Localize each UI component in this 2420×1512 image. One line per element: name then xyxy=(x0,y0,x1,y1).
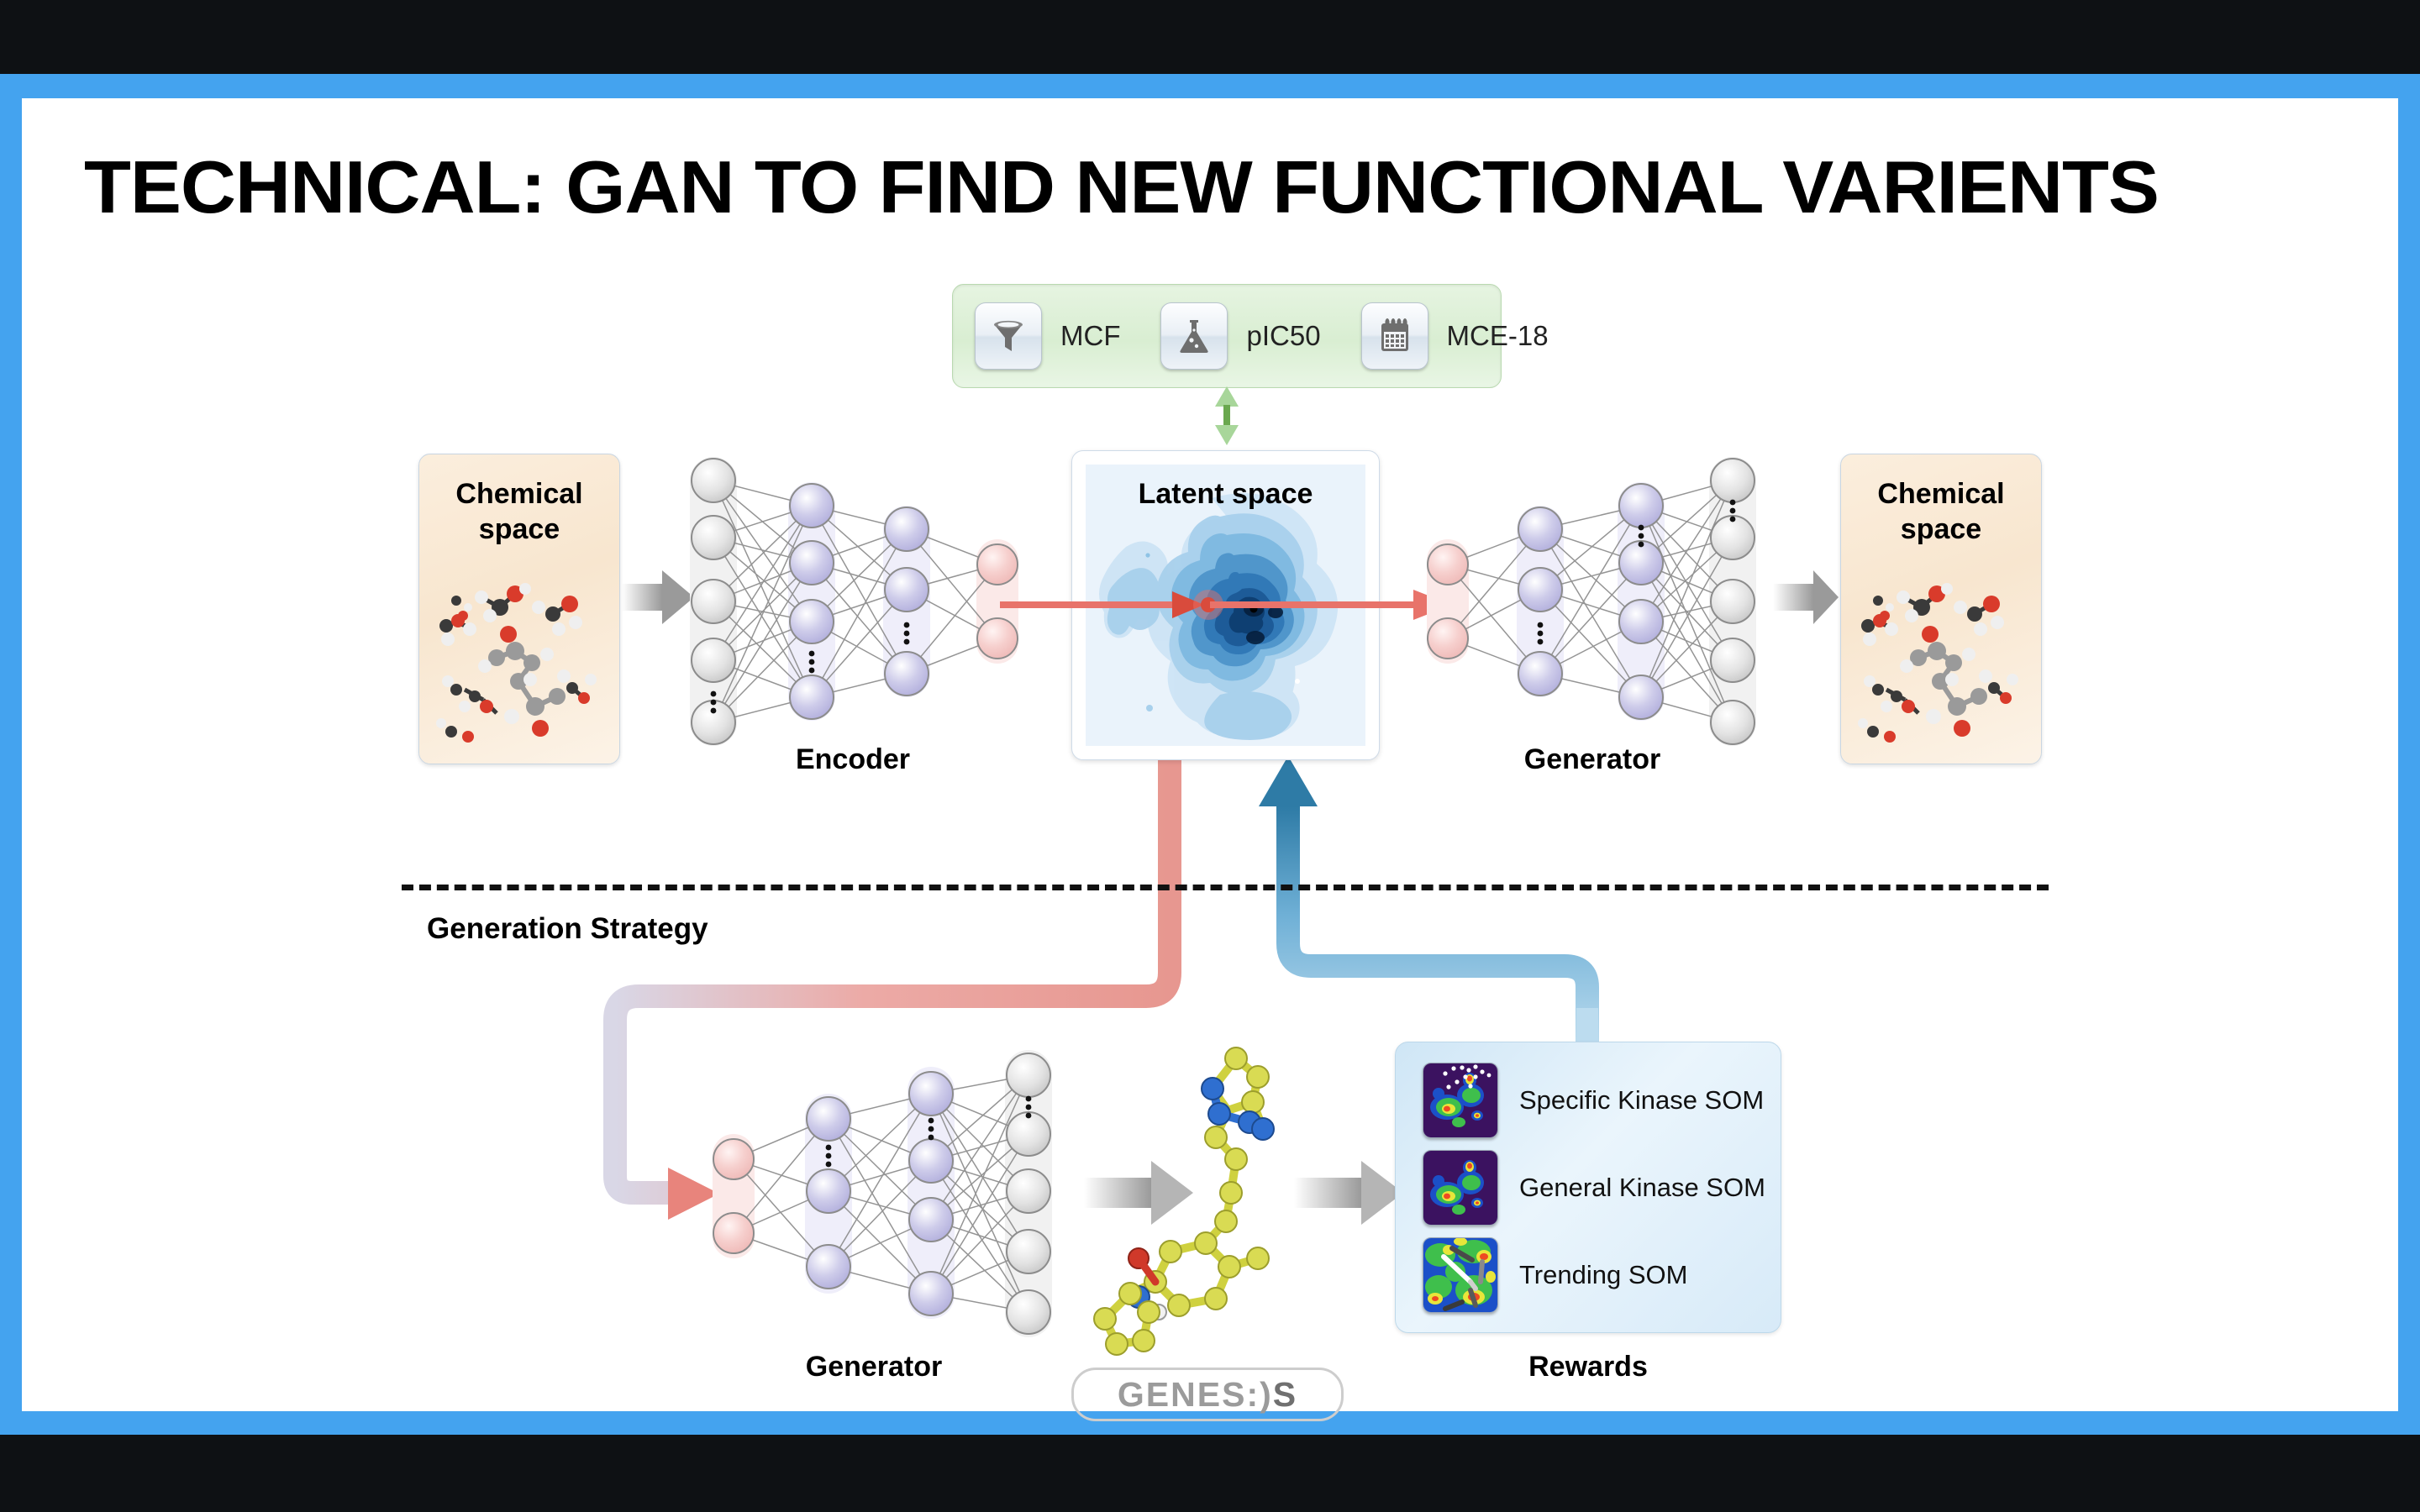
genesis-logo-face: :) xyxy=(1246,1375,1272,1415)
genesis-logo-end: S xyxy=(1273,1375,1297,1415)
pipe-arrow-into-latent xyxy=(1259,756,1318,806)
generator-top-label: Generator xyxy=(1470,743,1714,776)
chemical-space-left-panel: Chemical space xyxy=(418,454,620,764)
generator-top-network xyxy=(1420,445,1765,756)
generator-bottom-label: Generator xyxy=(748,1351,1000,1383)
latent-space-title: Latent space xyxy=(1072,478,1379,511)
rewards-label: Rewards xyxy=(1462,1351,1714,1383)
reward-label-trending: Trending SOM xyxy=(1519,1260,1687,1290)
property-label-pic50: pIC50 xyxy=(1246,320,1320,352)
chemical-space-right-panel: Chemical space xyxy=(1840,454,2042,764)
slide-root: TECHNICAL: GAN TO FIND NEW FUNCTIONAL VA… xyxy=(0,0,2420,1512)
genesis-logo-text: GENES xyxy=(1118,1375,1247,1415)
genesis-logo: GENES:)S xyxy=(1071,1368,1344,1421)
properties-panel[interactable]: MCF pIC50 xyxy=(952,284,1502,388)
chemical-space-right-title: Chemical space xyxy=(1841,476,2041,547)
property-item-pic50[interactable]: pIC50 xyxy=(1160,302,1360,370)
chemical-space-left-title: Chemical space xyxy=(419,476,619,547)
som-heatmap-general-icon xyxy=(1423,1150,1498,1226)
latent-traversal-arrow xyxy=(1000,563,1470,647)
pipe-rewards-to-latent xyxy=(1288,806,1587,1048)
property-item-mcf[interactable]: MCF xyxy=(975,302,1160,370)
generator-bottom-network xyxy=(706,1042,1059,1344)
molecule-cluster-icon xyxy=(1853,564,2029,753)
reward-label-specific: Specific Kinase SOM xyxy=(1519,1085,1764,1116)
generated-molecule-icon xyxy=(1071,1042,1340,1361)
rewards-panel: Specific Kinase SOM xyxy=(1395,1042,1781,1333)
som-heatmap-specific-icon xyxy=(1423,1063,1498,1138)
encoder-network xyxy=(681,445,1025,756)
reward-item-specific[interactable]: Specific Kinase SOM xyxy=(1423,1063,1764,1138)
arrow-generator-to-chem xyxy=(1773,570,1839,624)
som-heatmap-trending-icon xyxy=(1423,1237,1498,1313)
encoder-label: Encoder xyxy=(731,743,975,776)
property-label-mce18: MCE-18 xyxy=(1447,320,1549,352)
property-latent-double-arrow xyxy=(1213,386,1241,445)
flask-icon xyxy=(1160,302,1228,370)
reward-item-general[interactable]: General Kinase SOM xyxy=(1423,1150,1765,1226)
property-label-mcf: MCF xyxy=(1060,320,1120,352)
reward-label-general: General Kinase SOM xyxy=(1519,1173,1765,1203)
calendar-icon xyxy=(1361,302,1428,370)
funnel-icon xyxy=(975,302,1042,370)
molecule-cluster-icon xyxy=(431,564,608,753)
property-item-mce18[interactable]: MCE-18 xyxy=(1361,302,1549,370)
section-divider xyxy=(402,885,2049,890)
generation-strategy-label: Generation Strategy xyxy=(427,912,708,946)
reward-item-trending[interactable]: Trending SOM xyxy=(1423,1237,1687,1313)
